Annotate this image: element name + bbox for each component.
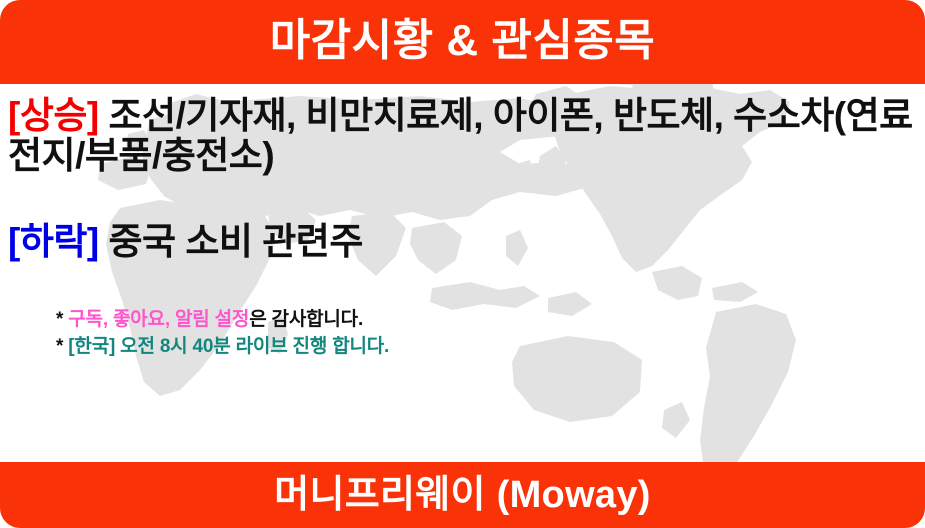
slide-root: 마감시황 & 관심종목 [상승] 조선/기자재, 비만치료제, 아이폰, 반도체… — [0, 0, 925, 528]
channel-name: 머니프리웨이 (Moway) — [274, 476, 651, 514]
down-tag: [하락] — [8, 221, 99, 262]
page-title: 마감시황 & 관심종목 — [270, 19, 656, 63]
footnote-bullet-1: * — [56, 309, 68, 330]
up-section: [상승] 조선/기자재, 비만치료제, 아이폰, 반도체, 수소차(연료전지/부… — [8, 96, 925, 176]
footnote-subscribe: * 구독, 좋아요, 알림 설정은 감사합니다. — [56, 307, 389, 334]
footnote-live-schedule: * [한국] 오전 8시 40분 라이브 진행 합니다. — [56, 334, 389, 361]
footnote-rest-1: 은 감사합니다. — [249, 309, 363, 330]
down-text: 중국 소비 관련주 — [99, 221, 363, 262]
main-content: [상승] 조선/기자재, 비만치료제, 아이폰, 반도체, 수소차(연료전지/부… — [0, 84, 925, 462]
header-band: 마감시황 & 관심종목 — [0, 0, 925, 84]
footnote-highlight-1: 구독, 좋아요, 알림 설정 — [68, 309, 249, 330]
footer-band: 머니프리웨이 (Moway) — [0, 462, 925, 528]
footnote-bullet-2: * — [56, 336, 68, 357]
footnotes: * 구독, 좋아요, 알림 설정은 감사합니다. * [한국] 오전 8시 40… — [56, 307, 389, 361]
up-text: 조선/기자재, 비만치료제, 아이폰, 반도체, 수소차(연료전지/부품/충전소… — [8, 95, 913, 176]
up-tag: [상승] — [8, 95, 99, 136]
footnote-highlight-2: [한국] 오전 8시 40분 라이브 진행 합니다. — [68, 336, 389, 357]
down-section: [하락] 중국 소비 관련주 — [8, 222, 925, 262]
